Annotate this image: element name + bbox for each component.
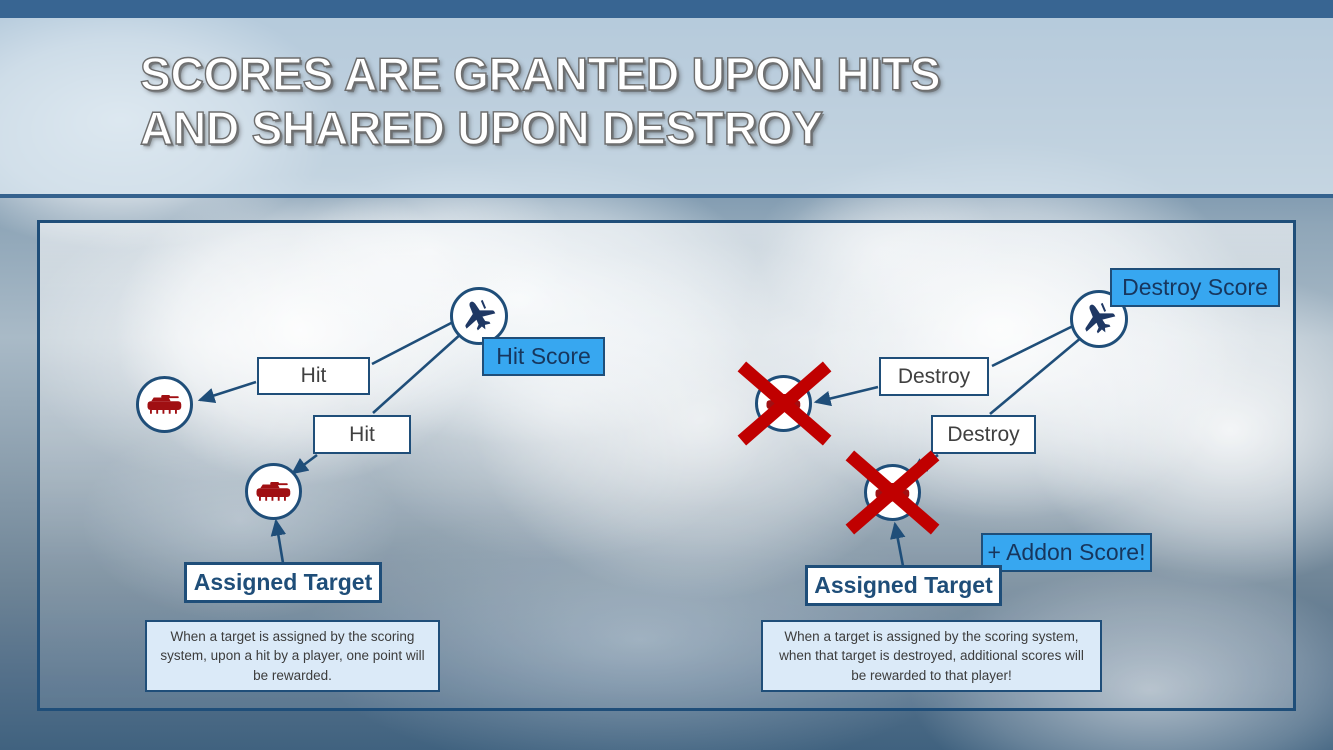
right-edge-label-destroy-2[interactable]: Destroy (931, 415, 1036, 454)
right-assigned-target-label[interactable]: Assigned Target (805, 565, 1002, 606)
jet-icon (459, 296, 499, 336)
left-assigned-target-label[interactable]: Assigned Target (184, 562, 382, 603)
left-caption: When a target is assigned by the scoring… (145, 620, 440, 692)
left-edge-label-hit-1[interactable]: Hit (257, 357, 370, 395)
right-edge-label-destroy-1[interactable]: Destroy (879, 357, 989, 396)
slide-root: SCORES ARE GRANTED UPON HITS AND SHARED … (0, 0, 1333, 750)
right-target-node-lower[interactable] (864, 464, 921, 521)
tank-icon (764, 391, 804, 417)
left-target-node-lower[interactable] (245, 463, 302, 520)
left-edge-label-hit-2[interactable]: Hit (313, 415, 411, 454)
addon-score-badge[interactable]: + Addon Score! (981, 533, 1152, 572)
tank-icon (254, 479, 294, 505)
page-title: SCORES ARE GRANTED UPON HITS AND SHARED … (140, 48, 1240, 156)
left-target-node-upper[interactable] (136, 376, 193, 433)
right-target-node-upper[interactable] (755, 375, 812, 432)
destroy-score-badge[interactable]: Destroy Score (1110, 268, 1280, 307)
right-caption: When a target is assigned by the scoring… (761, 620, 1102, 692)
tank-icon (873, 480, 913, 506)
header-top-strip (0, 0, 1333, 18)
hit-score-badge[interactable]: Hit Score (482, 337, 605, 376)
tank-icon (145, 392, 185, 418)
